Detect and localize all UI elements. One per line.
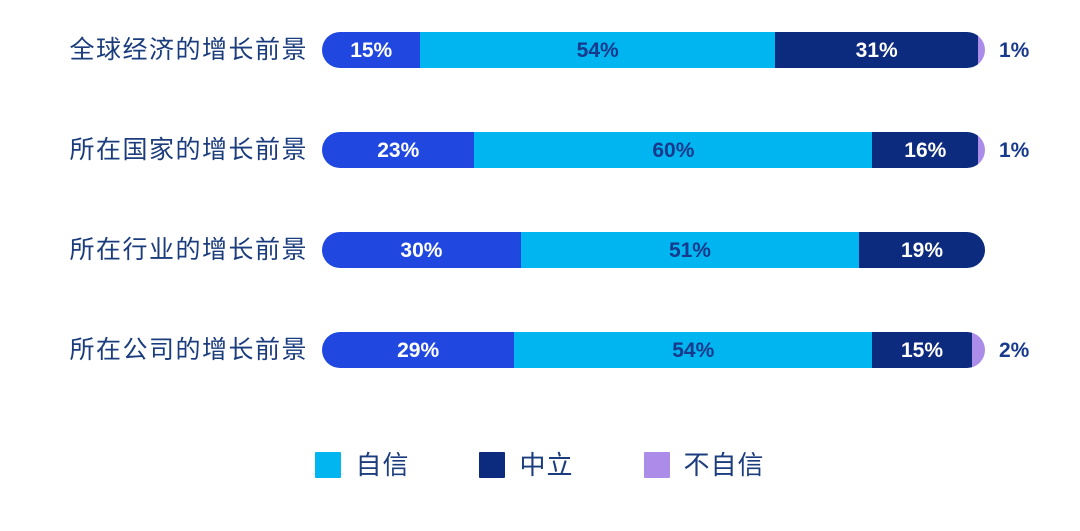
- stacked-bar-chart: 全球经济的增长前景15%54%31%1%所在国家的增长前景23%60%16%1%…: [0, 0, 1080, 531]
- chart-legend: 自信中立不自信: [0, 452, 1080, 478]
- bar-segment-neutral: 15%: [872, 332, 971, 368]
- bar-segment-neutral: 19%: [859, 232, 985, 268]
- bar-segment-veryconfident: 29%: [322, 332, 514, 368]
- bar-outside-value: 1%: [985, 140, 1061, 161]
- legend-swatch-icon: [644, 452, 670, 478]
- bar-row-label: 所在国家的增长前景: [0, 138, 322, 163]
- bar-outside-value: 1%: [985, 40, 1061, 61]
- legend-item[interactable]: 不自信: [644, 452, 765, 478]
- bar-segment-neutral: 31%: [775, 32, 978, 68]
- bar-segment-value: 15%: [901, 340, 943, 361]
- bar-track: 29%54%15%: [322, 332, 985, 368]
- bar-segment-value: 60%: [652, 140, 694, 161]
- bar-segment-value: 15%: [350, 40, 392, 61]
- bar-segment-confident: 54%: [514, 332, 872, 368]
- bar-row: 所在公司的增长前景29%54%15%2%: [0, 300, 1080, 400]
- bar-segment-value: 54%: [672, 340, 714, 361]
- bar-segment-veryconfident: 23%: [322, 132, 474, 168]
- legend-swatch-icon: [315, 452, 341, 478]
- bar-segment-confident: 54%: [420, 32, 774, 68]
- bar-segment-notconfident: [972, 332, 985, 368]
- bar-row: 所在行业的增长前景30%51%19%: [0, 200, 1080, 300]
- bar-row-label: 全球经济的增长前景: [0, 38, 322, 63]
- bar-segment-value: 29%: [397, 340, 439, 361]
- legend-label: 不自信: [684, 452, 765, 478]
- bar-segment-neutral: 16%: [872, 132, 978, 168]
- bar-segment-notconfident: [978, 32, 985, 68]
- bar-segment-confident: 51%: [521, 232, 859, 268]
- bar-segment-value: 30%: [400, 240, 442, 261]
- legend-item[interactable]: 中立: [479, 452, 573, 478]
- bar-segment-value: 51%: [669, 240, 711, 261]
- bar-segment-veryconfident: 30%: [322, 232, 521, 268]
- legend-swatch-icon: [479, 452, 505, 478]
- bar-track: 30%51%19%: [322, 232, 985, 268]
- bar-row: 所在国家的增长前景23%60%16%1%: [0, 100, 1080, 200]
- legend-label: 自信: [355, 452, 409, 478]
- bar-segment-notconfident: [978, 132, 985, 168]
- bar-row-label: 所在公司的增长前景: [0, 338, 322, 363]
- bar-track: 15%54%31%: [322, 32, 985, 68]
- bar-segment-value: 23%: [377, 140, 419, 161]
- bar-segment-value: 54%: [577, 40, 619, 61]
- bar-segment-veryconfident: 15%: [322, 32, 420, 68]
- bar-segment-value: 16%: [904, 140, 946, 161]
- bar-segment-confident: 60%: [474, 132, 872, 168]
- legend-item[interactable]: 自信: [315, 452, 409, 478]
- bar-segment-value: 19%: [901, 240, 943, 261]
- bar-track: 23%60%16%: [322, 132, 985, 168]
- bar-row-label: 所在行业的增长前景: [0, 238, 322, 263]
- bar-segment-value: 31%: [856, 40, 898, 61]
- bar-outside-value: 2%: [985, 340, 1061, 361]
- bar-row: 全球经济的增长前景15%54%31%1%: [0, 0, 1080, 100]
- chart-rows: 全球经济的增长前景15%54%31%1%所在国家的增长前景23%60%16%1%…: [0, 0, 1080, 400]
- legend-label: 中立: [519, 452, 573, 478]
